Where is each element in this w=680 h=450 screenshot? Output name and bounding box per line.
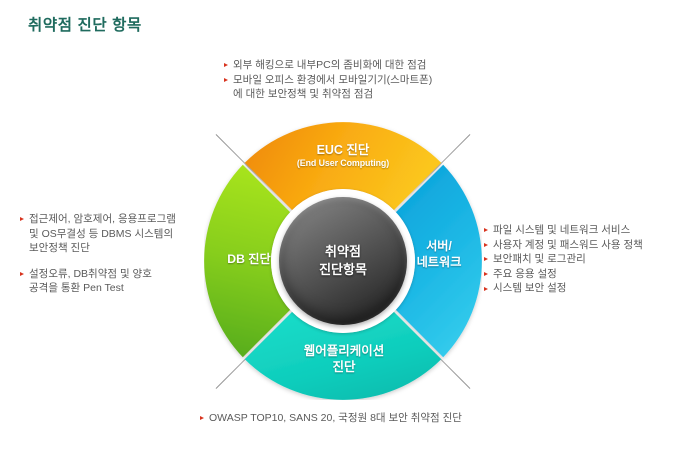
annotation-continuation: 보안정책 진단: [20, 241, 176, 256]
annotation-bullet: 설정오류, DB취약점 및 양호: [20, 267, 176, 282]
center-label-line2: 진단항목: [319, 261, 367, 279]
diagnosis-wheel: EUC 진단 (End User Computing) 서버/ 네트워크 웹어플…: [204, 122, 482, 400]
center-hub: 취약점 진단항목: [271, 189, 415, 333]
annotation-continuation: 에 대한 보안정책 및 취약점 점검: [224, 87, 432, 102]
annotation-bullet: 외부 해킹으로 내부PC의 좀비화에 대한 점검: [224, 58, 432, 73]
annotation-bullet: OWASP TOP10, SANS 20, 국정원 8대 보안 취약점 진단: [200, 411, 462, 426]
annotation-web: OWASP TOP10, SANS 20, 국정원 8대 보안 취약점 진단: [200, 411, 462, 426]
annotation-bullet: 사용자 계정 및 패스워드 사용 정책: [484, 238, 643, 253]
annotation-server: 파일 시스템 및 네트워크 서비스사용자 계정 및 패스워드 사용 정책보안패치…: [484, 223, 643, 296]
annotation-bullet: 주요 응용 설정: [484, 267, 643, 282]
annotation-bullet: 파일 시스템 및 네트워크 서비스: [484, 223, 643, 238]
page-title: 취약점 진단 항목: [28, 13, 142, 35]
annotation-bullet: 접근제어, 암호제어, 응용프로그램: [20, 212, 176, 227]
center-label-line1: 취약점: [325, 243, 361, 261]
annotation-continuation: 및 OS무결성 등 DBMS 시스템의: [20, 227, 176, 242]
annotation-db: 접근제어, 암호제어, 응용프로그램및 OS무결성 등 DBMS 시스템의보안정…: [20, 212, 176, 296]
annotation-bullet: 보안패치 및 로그관리: [484, 252, 643, 267]
center-hub-sphere: 취약점 진단항목: [279, 197, 407, 325]
annotation-continuation: 공격을 통환 Pen Test: [20, 281, 176, 296]
annotation-bullet: 시스템 보안 설정: [484, 281, 643, 296]
annotation-bullet: 모바일 오피스 환경에서 모바일기기(스마트폰): [224, 73, 432, 88]
annotation-euc: 외부 해킹으로 내부PC의 좀비화에 대한 점검모바일 오피스 환경에서 모바일…: [224, 58, 432, 102]
